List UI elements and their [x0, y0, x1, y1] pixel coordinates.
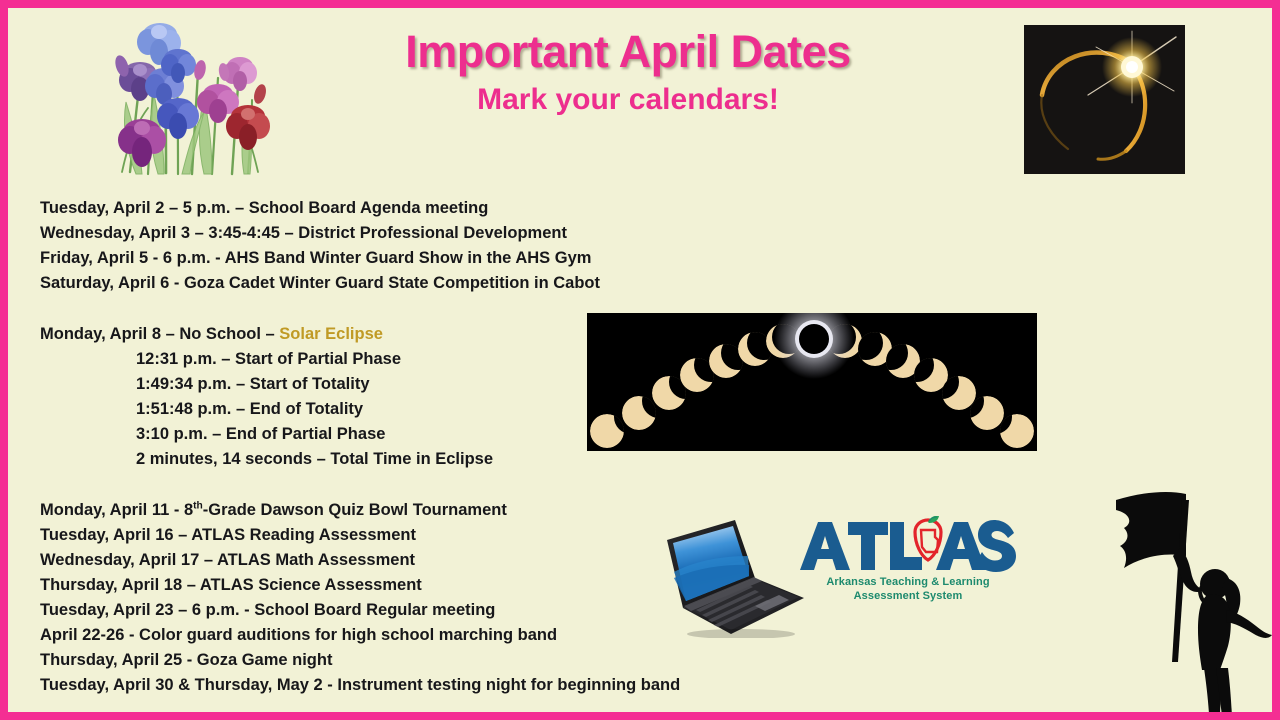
list-item: 2 minutes, 14 seconds – Total Time in Ec…	[40, 447, 493, 472]
early-april-dates-block: Tuesday, April 2 – 5 p.m. – School Board…	[40, 196, 600, 296]
solar-eclipse-ring-image	[1024, 25, 1185, 174]
quiz-bowl-before: Monday, April 11 - 8	[40, 501, 193, 519]
eclipse-heading-prefix: Monday, April 8 – No School –	[40, 325, 279, 343]
atlas-logo: Arkansas Teaching & Learning Assessment …	[798, 516, 1018, 608]
atlas-wordmark-icon	[798, 516, 1018, 574]
page-title: Important April Dates	[288, 28, 968, 75]
slide-canvas: Important April Dates Mark your calendar…	[0, 0, 1280, 720]
solar-eclipse-block: Monday, April 8 – No School – Solar Ecli…	[40, 322, 493, 472]
list-item: 1:51:48 p.m. – End of Totality	[40, 397, 493, 422]
list-item: Tuesday, April 23 – 6 p.m. - School Boar…	[40, 598, 680, 623]
list-item: 12:31 p.m. – Start of Partial Phase	[40, 347, 493, 372]
list-item: Tuesday, April 2 – 5 p.m. – School Board…	[40, 196, 600, 221]
quiz-bowl-after: -Grade Dawson Quiz Bowl Tournament	[203, 501, 507, 519]
list-item: Friday, April 5 - 6 p.m. - AHS Band Wint…	[40, 246, 600, 271]
list-item: Thursday, April 25 - Goza Game night	[40, 648, 680, 673]
title-block: Important April Dates Mark your calendar…	[288, 28, 968, 116]
list-item: 1:49:34 p.m. – Start of Totality	[40, 372, 493, 397]
laptop-computer-image	[661, 512, 809, 638]
quiz-bowl-ordinal-suffix: th	[193, 501, 203, 512]
eclipse-heading: Monday, April 8 – No School – Solar Ecli…	[40, 322, 493, 347]
list-item: 3:10 p.m. – End of Partial Phase	[40, 422, 493, 447]
atlas-tagline: Arkansas Teaching & Learning Assessment …	[798, 576, 1018, 603]
list-item: Monday, April 11 - 8th-Grade Dawson Quiz…	[40, 498, 680, 523]
list-item: April 22-26 - Color guard auditions for …	[40, 623, 680, 648]
late-april-dates-block: Monday, April 11 - 8th-Grade Dawson Quiz…	[40, 498, 680, 698]
list-item: Tuesday, April 16 – ATLAS Reading Assess…	[40, 523, 680, 548]
atlas-tagline-line-1: Arkansas Teaching & Learning	[798, 576, 1018, 590]
atlas-tagline-line-2: Assessment System	[798, 590, 1018, 604]
solar-eclipse-sequence-image	[587, 313, 1037, 451]
iris-flowers-image	[100, 16, 272, 176]
list-item: Tuesday, April 30 & Thursday, May 2 - In…	[40, 673, 680, 698]
list-item: Saturday, April 6 - Goza Cadet Winter Gu…	[40, 271, 600, 296]
page-subtitle: Mark your calendars!	[288, 83, 968, 116]
list-item: Thursday, April 18 – ATLAS Science Asses…	[40, 573, 680, 598]
list-item: Wednesday, April 3 – 3:45-4:45 – Distric…	[40, 221, 600, 246]
list-item: Wednesday, April 17 – ATLAS Math Assessm…	[40, 548, 680, 573]
colorguard-flag-silhouette-image	[1094, 486, 1280, 720]
eclipse-heading-highlight: Solar Eclipse	[279, 325, 383, 343]
